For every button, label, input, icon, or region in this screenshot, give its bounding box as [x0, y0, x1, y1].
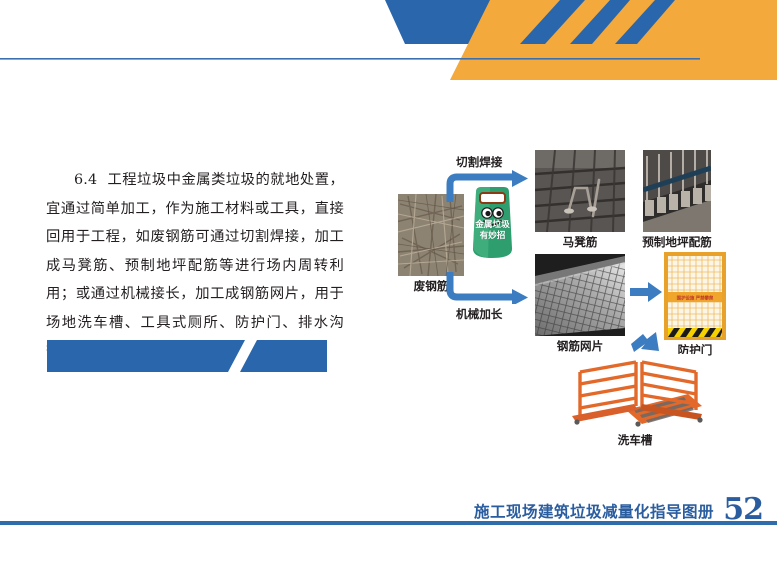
arrow-mesh-to-gate — [630, 282, 662, 302]
caption-rebar-mesh: 钢筋网片 — [535, 340, 625, 353]
photo-precast-floor-reinforcement — [643, 150, 711, 232]
photo-rebar-chairs — [535, 150, 625, 232]
gate-warning-text: 围护设施 严禁攀爬 — [677, 294, 714, 301]
mascot-slogan-line1: 金属垃圾 — [470, 220, 515, 231]
decor-bar — [47, 340, 327, 372]
footer-title: 施工现场建筑垃圾减量化指导图册 — [474, 500, 714, 522]
decor-bar-right — [240, 340, 327, 372]
arrow-label-cut-and-weld: 切割焊接 — [456, 154, 502, 170]
arrow-cut-and-weld — [446, 170, 530, 202]
section-number: 6.4 — [74, 172, 97, 188]
mascot-slogan-line2: 有妙招 — [470, 231, 515, 242]
caption-wash-trough: 洗车槽 — [564, 434, 706, 447]
article-body: 6.4 工程垃圾中金属类垃圾的就地处置，宜通过简单加工，作为施工材料或工具，直接… — [46, 166, 344, 366]
header-decoration — [0, 0, 777, 80]
article-body-text: 工程垃圾中金属类垃圾的就地处置，宜通过简单加工，作为施工材料或工具，直接回用于工… — [46, 172, 344, 359]
photo-rebar-mesh — [535, 254, 625, 336]
mascot-slogan: 金属垃圾 有妙招 — [470, 220, 515, 242]
photo-wash-trough — [564, 354, 706, 430]
page-number: 52 — [723, 492, 763, 527]
arrow-label-mechanical-extension: 机械加长 — [456, 306, 502, 322]
caption-rebar-chairs: 马凳筋 — [535, 236, 625, 249]
photo-scrap-rebar — [398, 194, 464, 276]
caption-precast-floor-reinforcement: 预制地坪配筋 — [636, 236, 718, 249]
photo-protective-gate: 围护设施 严禁攀爬 — [664, 252, 726, 340]
process-figure: 废钢筋 金属垃圾 有妙招 切割焊接 机械加长 — [398, 142, 738, 452]
arrow-mechanical-extension — [446, 272, 530, 304]
header-divider-rule — [0, 58, 700, 60]
decor-bar-left — [47, 340, 245, 372]
